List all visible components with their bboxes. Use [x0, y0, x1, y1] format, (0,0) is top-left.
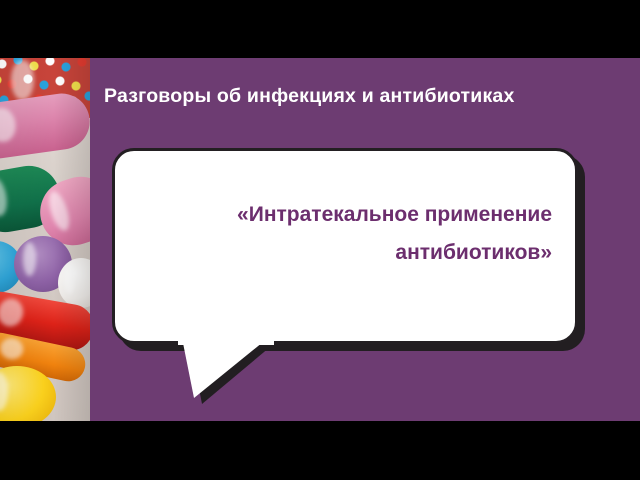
speech-bubble-tail: [182, 338, 268, 398]
speech-bubble-text: «Интратекальное применение антибиотиков»: [140, 196, 552, 272]
video-slide-frame: Разговоры об инфекциях и антибиотиках «И…: [0, 0, 640, 480]
slide-canvas: Разговоры об инфекциях и антибиотиках «И…: [0, 58, 640, 421]
speech-bubble-text-line-1: «Интратекальное применение: [140, 196, 552, 234]
speech-bubble: «Интратекальное применение антибиотиков»: [112, 148, 588, 401]
speech-bubble-text-line-2: антибиотиков»: [140, 234, 552, 272]
speech-bubble-tail-join: [178, 333, 274, 345]
slide-title: Разговоры об инфекциях и антибиотиках: [104, 85, 614, 108]
letterbox-bar-top: [0, 0, 640, 58]
letterbox-bar-bottom: [0, 421, 640, 480]
pills-photo-strip: [0, 58, 90, 421]
